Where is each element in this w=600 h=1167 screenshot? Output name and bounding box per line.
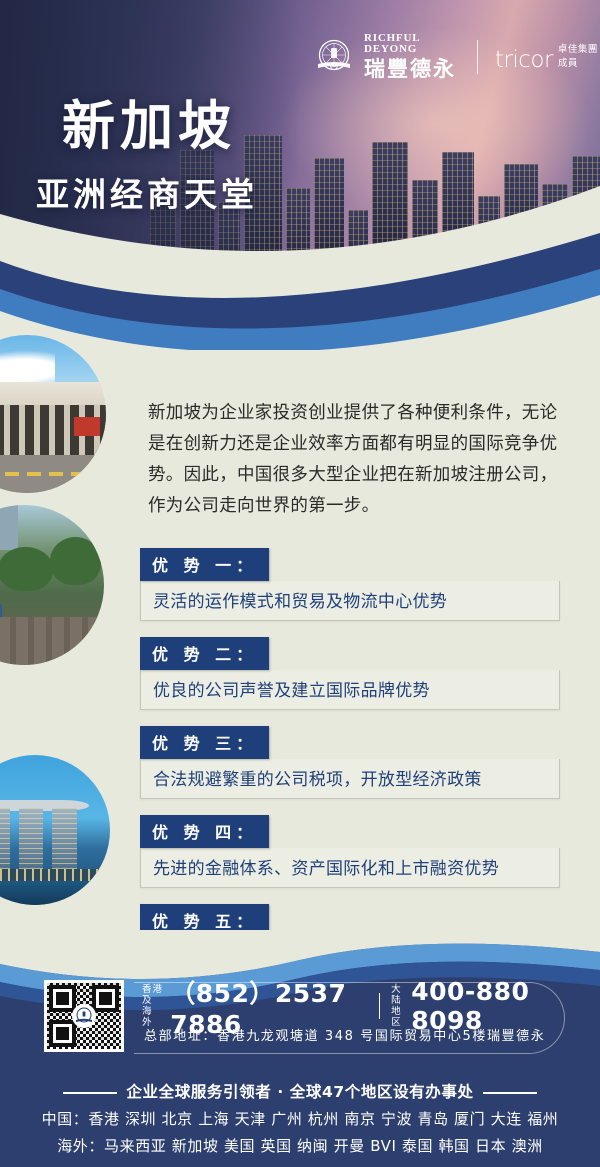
top-wave-decoration — [0, 215, 600, 350]
poster-root: 新加坡 亚洲经商天堂 — [0, 0, 600, 1167]
logo-chinese-name: 瑞豐德永 — [364, 59, 460, 80]
advantage-item-1: 优 势 一： 灵活的运作模式和贸易及物流中心优势 — [140, 548, 560, 621]
advantage-text: 优良的公司声誉及建立国际品牌优势 — [140, 670, 560, 710]
advantage-text: 先进的金融体系、资产国际化和上市融资优势 — [140, 848, 560, 888]
regions-china: 中国：香港 深圳 北京 上海 天津 广州 杭州 南京 宁波 青岛 厦门 大连 福… — [0, 1106, 600, 1133]
shophouse-street-photo — [0, 335, 106, 493]
office-regions: 中国：香港 深圳 北京 上海 天津 广州 杭州 南京 宁波 青岛 厦门 大连 福… — [0, 1106, 600, 1160]
advantage-tag: 优 势 四： — [140, 815, 269, 848]
phone-divider — [379, 993, 381, 1019]
city-greenery-photo — [0, 505, 104, 665]
advantage-item-3: 优 势 三： 合法规避繁重的公司税项，开放型经济政策 — [140, 726, 560, 799]
tricor-member-label: 卓佳集團成員 — [558, 41, 600, 73]
logo-divider — [477, 40, 478, 74]
company-seal-icon — [313, 36, 355, 78]
advantage-list: 优 势 一： 灵活的运作模式和贸易及物流中心优势 优 势 二： 优良的公司声誉及… — [140, 548, 560, 993]
tagline-dash-right — [483, 1092, 537, 1094]
cn-label-line1: 大陆 — [391, 984, 407, 1006]
advantage-text: 灵活的运作模式和贸易及物流中心优势 — [140, 581, 560, 621]
advantage-item-2: 优 势 二： 优良的公司声誉及建立国际品牌优势 — [140, 637, 560, 710]
cn-phone-label: 大陆 地区 — [391, 984, 407, 1028]
hk-phone-label: 香港及 海 外 — [142, 984, 166, 1028]
footer-tagline: 企业全球服务引领者 · 全球47个地区设有办事处 — [0, 1080, 600, 1102]
advantage-item-4: 优 势 四： 先进的金融体系、资产国际化和上市融资优势 — [140, 815, 560, 888]
headquarters-address: 总部地址：香港九龙观塘道 348 号国际贸易中心5楼瑞豐德永 — [144, 1025, 545, 1044]
hk-label-line1: 香港及 — [142, 984, 166, 1006]
tagline-dash-left — [63, 1092, 117, 1094]
contact-info-box: 香港及 海 外 （852）2537 7886 大陆 地区 400-880 809… — [134, 982, 565, 1054]
advantage-tag: 优 势 三： — [140, 726, 269, 759]
brand-logo: RICHFUL DEYONG 瑞豐德永 tricor 卓佳集團成員 — [313, 33, 600, 80]
advantage-text: 合法规避繁重的公司税项，开放型经济政策 — [140, 759, 560, 799]
page-title: 新加坡 — [62, 84, 236, 160]
tagline-text: 企业全球服务引领者 · 全球47个地区设有办事处 — [126, 1083, 473, 1101]
intro-paragraph: 新加坡为企业家投资创业提供了各种便利条件，无论是在创新力还是企业效率方面都有明显… — [148, 398, 560, 522]
tricor-wordmark: tricor — [495, 47, 553, 73]
logo-english-name: RICHFUL DEYONG — [364, 33, 460, 55]
advantage-tag: 优 势 二： — [140, 637, 269, 670]
advantage-tag: 优 势 一： — [140, 548, 269, 581]
regions-overseas: 海外：马来西亚 新加坡 美国 英国 纳闽 开曼 BVI 泰国 韩国 日本 澳洲 — [0, 1133, 600, 1160]
qr-code[interactable] — [44, 980, 124, 1052]
qr-center-seal-icon — [72, 1004, 96, 1028]
marina-bay-sands-photo — [0, 755, 110, 905]
